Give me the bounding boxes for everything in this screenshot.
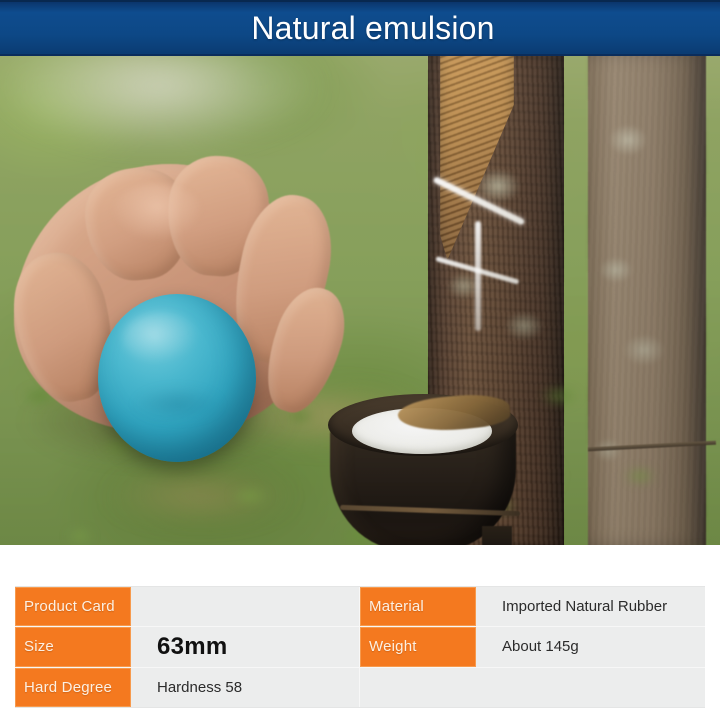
ball-shading bbox=[132, 386, 224, 422]
table-row: Size 63mm Weight About 145g bbox=[15, 627, 705, 667]
product-detail-page: Natural emulsion bbox=[0, 0, 720, 720]
ball-highlight bbox=[122, 312, 200, 364]
knuckle-highlight bbox=[112, 184, 202, 240]
banner-title: Natural emulsion bbox=[251, 12, 494, 44]
spec-value-hard-degree: Hardness 58 bbox=[131, 668, 360, 707]
page-banner: Natural emulsion bbox=[0, 0, 720, 56]
spec-label-hard-degree: Hard Degree bbox=[15, 668, 131, 707]
spec-empty-value-cell bbox=[476, 668, 705, 707]
latex-drip bbox=[475, 221, 481, 331]
spec-label-material: Material bbox=[360, 587, 476, 626]
product-photo bbox=[0, 56, 720, 545]
table-row: Hard Degree Hardness 58 bbox=[15, 668, 705, 707]
spec-label-size: Size bbox=[15, 627, 131, 666]
spec-value-material: Imported Natural Rubber bbox=[476, 587, 705, 626]
spec-value-size: 63mm bbox=[131, 627, 360, 666]
specification-table: Product Card Material Imported Natural R… bbox=[15, 586, 705, 708]
spec-label-product-card: Product Card bbox=[15, 587, 131, 626]
table-row: Product Card Material Imported Natural R… bbox=[15, 587, 705, 627]
latex-cup-base bbox=[482, 526, 512, 545]
spec-label-weight: Weight bbox=[360, 627, 476, 666]
spec-value-weight: About 145g bbox=[476, 627, 705, 666]
spec-empty-label-cell bbox=[360, 668, 476, 707]
spec-value-product-card bbox=[131, 587, 360, 626]
